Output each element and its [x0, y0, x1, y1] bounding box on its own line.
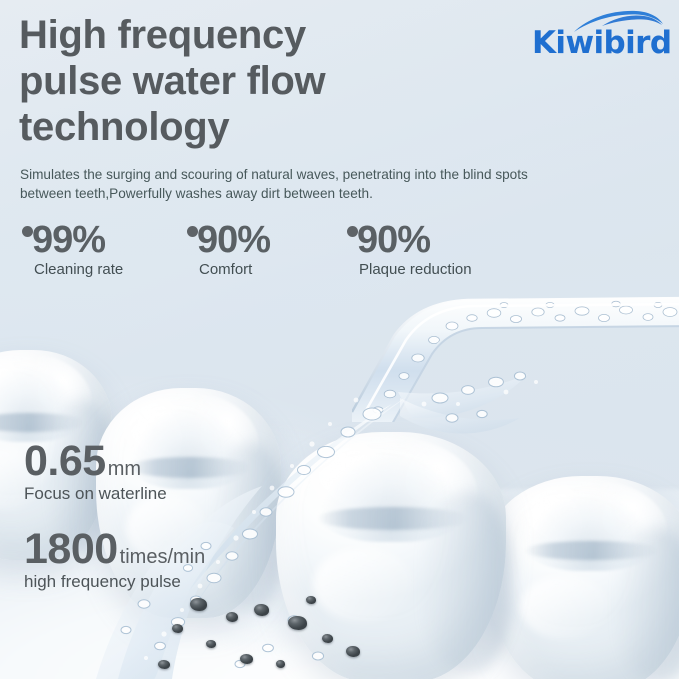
- subtitle-description: Simulates the surging and scouring of na…: [20, 166, 620, 203]
- stat-cleaning-rate: 99% Cleaning rate: [20, 218, 123, 279]
- bullet-dot-icon: [347, 226, 358, 237]
- spec-unit: times/min: [120, 545, 206, 569]
- spec-caption: high frequency pulse: [24, 571, 205, 593]
- page-title: High frequency pulse water flow technolo…: [19, 12, 499, 150]
- spec-pulse-frequency: 1800 times/min high frequency pulse: [24, 524, 205, 593]
- stat-comfort: 90% Comfort: [185, 218, 270, 279]
- spec-number: 1800: [24, 524, 118, 574]
- brand-logo: Kiwibird: [532, 10, 668, 58]
- stat-plaque-reduction: 90% Plaque reduction: [345, 218, 472, 279]
- product-feature-poster: Kiwibird High frequency pulse water flow…: [0, 0, 679, 679]
- brand-wordmark: Kiwibird: [532, 27, 668, 60]
- stat-label: Cleaning rate: [20, 260, 123, 279]
- stat-value: 90%: [345, 218, 472, 262]
- text-overlay: Kiwibird High frequency pulse water flow…: [0, 0, 679, 679]
- spec-caption: Focus on waterline: [24, 483, 167, 505]
- spec-value-row: 1800 times/min: [24, 524, 205, 574]
- stats-row: 99% Cleaning rate 90% Comfort 90% Plaque…: [0, 218, 679, 290]
- spec-value-row: 0.65 mm: [24, 436, 167, 486]
- bullet-dot-icon: [22, 226, 33, 237]
- spec-unit: mm: [108, 457, 141, 481]
- stat-label: Plaque reduction: [345, 260, 472, 279]
- stat-value: 99%: [20, 218, 123, 262]
- spec-number: 0.65: [24, 436, 106, 486]
- bullet-dot-icon: [187, 226, 198, 237]
- stat-value: 90%: [185, 218, 270, 262]
- spec-waterline: 0.65 mm Focus on waterline: [24, 436, 167, 505]
- stat-label: Comfort: [185, 260, 270, 279]
